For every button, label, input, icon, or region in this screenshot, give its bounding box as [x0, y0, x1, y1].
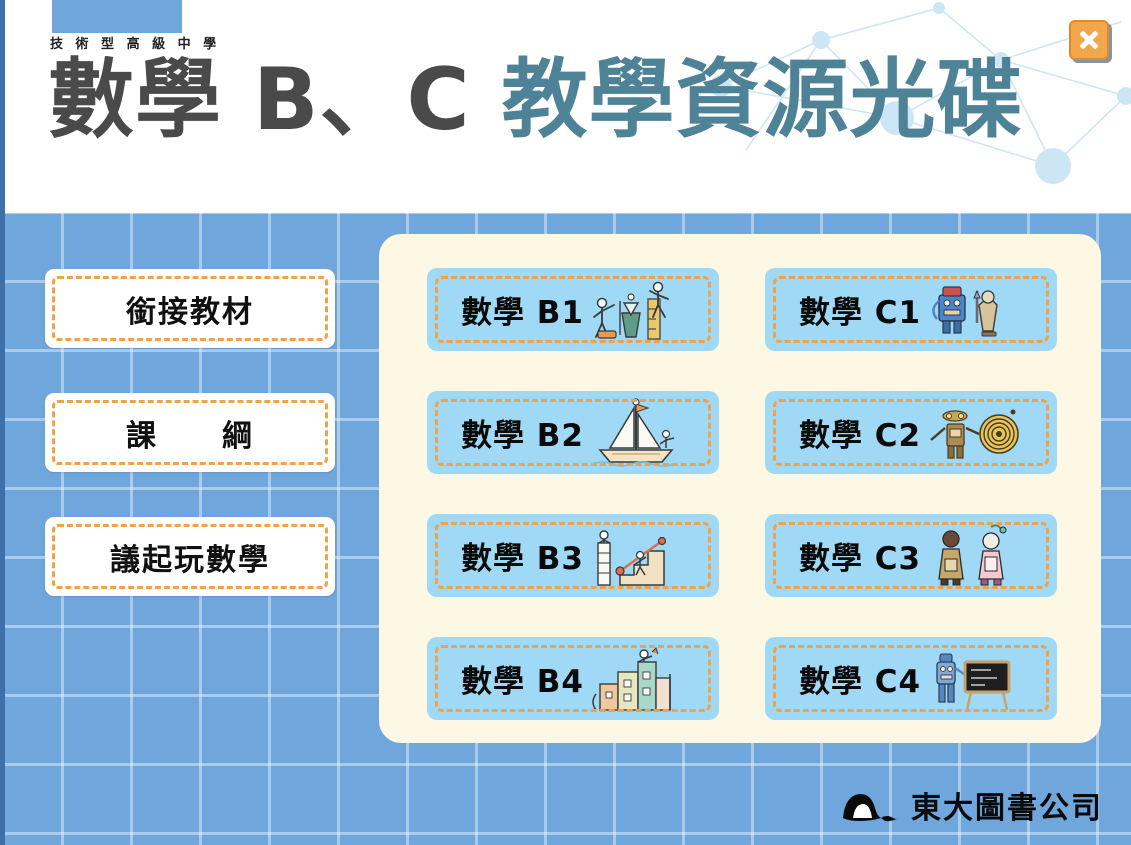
lesson-panel: 數學 B1: [379, 234, 1101, 743]
lesson-button-c2[interactable]: 數學 C2: [765, 391, 1057, 474]
lesson-label: 數學 B3: [461, 533, 584, 578]
city-buildings-icon: [590, 644, 682, 714]
sailboat-icon: [590, 398, 682, 468]
arch-logo-icon: [841, 788, 901, 822]
lesson-label: 數學 B1: [461, 287, 584, 332]
sidebar-item-label: 銜接教材: [126, 287, 254, 331]
surveying-figures-icon: [590, 275, 682, 345]
lesson-button-b4[interactable]: 數學 B4: [427, 637, 719, 720]
lesson-label: 數學 C3: [799, 533, 921, 578]
brand-color-block: [52, 0, 182, 33]
robot-chalkboard-icon: [927, 644, 1019, 714]
lesson-label: 數學 C2: [799, 410, 921, 455]
lesson-label: 數學 C4: [799, 656, 921, 701]
lesson-label: 數學 B2: [461, 410, 584, 455]
lesson-grid: 數學 B1: [427, 268, 1057, 720]
company-logo: 東大圖書公司: [841, 783, 1103, 827]
header-bar: 技 術 型 高 級 中 學 數學 B、C 教學資源光碟: [0, 0, 1131, 213]
sidebar-item-curriculum-guidelines[interactable]: 課 綱: [45, 393, 335, 472]
company-name: 東大圖書公司: [911, 783, 1103, 827]
lesson-button-c1[interactable]: 數學 C1: [765, 268, 1057, 351]
lesson-button-c4[interactable]: 數學 C4: [765, 637, 1057, 720]
lesson-button-b2[interactable]: 數學 B2: [427, 391, 719, 474]
lesson-button-b3[interactable]: 數學 B3: [427, 514, 719, 597]
robot-and-knight-icon: [927, 275, 1019, 345]
two-characters-icon: [927, 521, 1019, 591]
sidebar-item-label: 議起玩數學: [110, 535, 270, 579]
robot-and-target-icon: [927, 398, 1019, 468]
lesson-label: 數學 B4: [461, 656, 584, 701]
construction-stairs-icon: [590, 521, 682, 591]
close-icon[interactable]: [1069, 20, 1109, 60]
lesson-button-c3[interactable]: 數學 C3: [765, 514, 1057, 597]
page-title-teal: 教學資源光碟: [502, 50, 1024, 150]
page-title-dark: 數學 B、C: [48, 50, 502, 150]
sidebar-item-label: 課 綱: [126, 411, 254, 455]
lesson-label: 數學 C1: [799, 287, 921, 332]
page-title: 數學 B、C 教學資源光碟: [48, 52, 1024, 148]
sidebar-item-linking-materials[interactable]: 銜接教材: [45, 269, 335, 348]
left-edge-stripe: [0, 0, 5, 845]
lesson-button-b1[interactable]: 數學 B1: [427, 268, 719, 351]
sidebar: 銜接教材 課 綱 議起玩數學: [45, 269, 335, 641]
app-window: 技 術 型 高 級 中 學 數學 B、C 教學資源光碟 銜接教材 課 綱 議起玩…: [0, 0, 1131, 845]
sidebar-item-play-math-together[interactable]: 議起玩數學: [45, 517, 335, 596]
